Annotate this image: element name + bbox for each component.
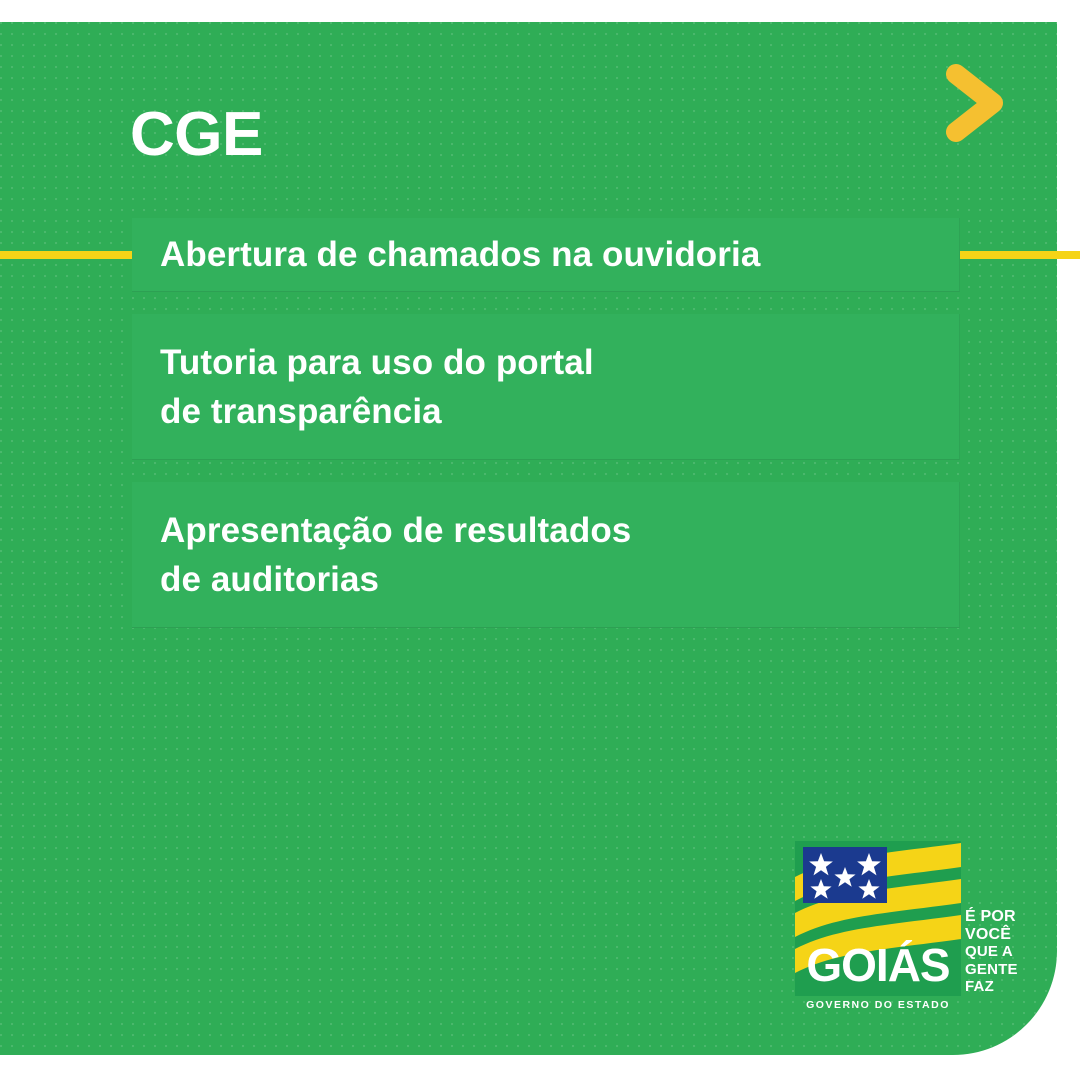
tagline-line: É POR (965, 908, 1025, 926)
topic-line: Apresentação de resultados (160, 506, 959, 555)
goias-government-logo: GOIÁS GOVERNO DO ESTADO É POR VOCÊ QUE A… (795, 841, 1000, 1023)
tagline-line: GENTE (965, 961, 1025, 979)
logo-subtitle: GOVERNO DO ESTADO (795, 999, 961, 1011)
topic-line: Tutoria para uso do portal (160, 338, 959, 387)
topic-line: de transparência (160, 387, 959, 436)
tagline-line: FAZ (965, 978, 1025, 996)
topic-card-abertura-de-chamados[interactable]: Abertura de chamados na ouvidoria (132, 218, 960, 292)
tagline-line: QUE A (965, 943, 1025, 961)
chevron-right-icon[interactable] (942, 62, 1008, 144)
topic-card-tutoria-portal-transparencia[interactable]: Tutoria para uso do portal de transparên… (132, 314, 960, 460)
svg-text:GOIÁS: GOIÁS (806, 939, 949, 991)
page-title: CGE (130, 104, 263, 166)
topic-card-apresentacao-resultados-auditorias[interactable]: Apresentação de resultados de auditorias (132, 482, 960, 628)
slide-canvas: CGE Abertura de chamados na ouvidoria Tu… (0, 0, 1080, 1080)
topic-line: de auditorias (160, 555, 959, 604)
logo-tagline: É POR VOCÊ QUE A GENTE FAZ (965, 908, 1025, 996)
topic-list: Abertura de chamados na ouvidoria Tutori… (132, 218, 960, 628)
tagline-line: VOCÊ (965, 926, 1025, 944)
topic-line: Abertura de chamados na ouvidoria (160, 230, 959, 279)
goias-flag-icon: GOIÁS (795, 841, 961, 996)
